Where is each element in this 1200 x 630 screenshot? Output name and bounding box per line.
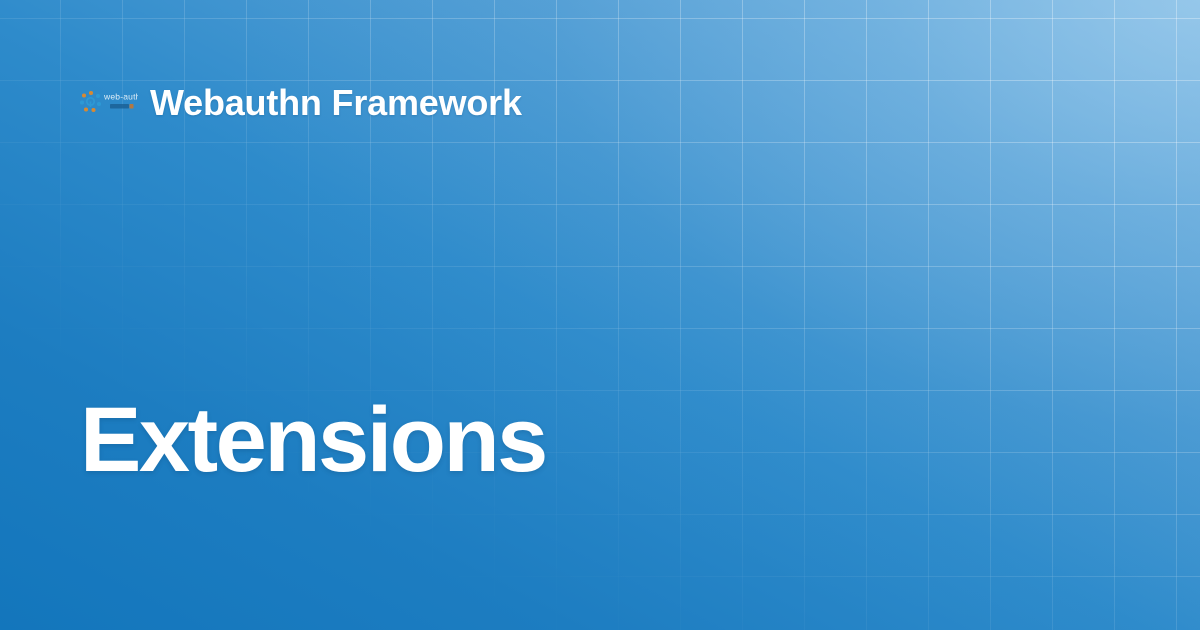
og-banner-card: web-auth Webauthn Framework Extensions [0, 0, 1200, 630]
svg-text:web-auth: web-auth [103, 92, 138, 102]
brand-header: web-auth Webauthn Framework [80, 78, 522, 128]
project-name-label: Webauthn Framework [150, 85, 522, 121]
page-title: Extensions [80, 394, 546, 486]
webauthn-dots-logo-icon: web-auth [80, 86, 138, 120]
